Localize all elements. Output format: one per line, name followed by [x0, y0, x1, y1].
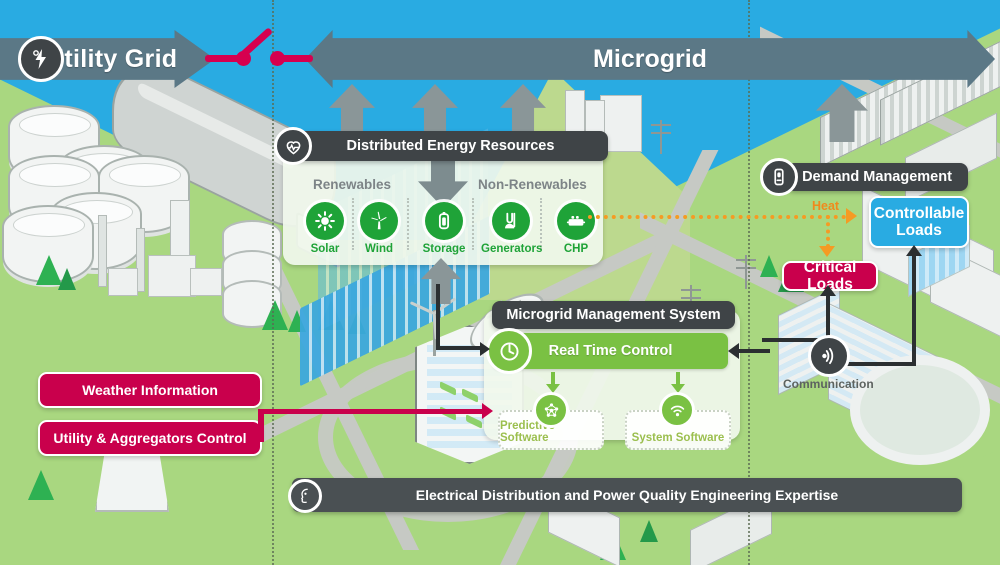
footer-label: Electrical Distribution and Power Qualit… — [416, 487, 838, 503]
plant-building — [148, 255, 196, 297]
footer-banner[interactable]: Electrical Distribution and Power Qualit… — [292, 478, 962, 512]
der-title: Distributed Energy Resources — [347, 138, 555, 154]
stadium — [850, 355, 990, 465]
mms-title: Microgrid Management System — [506, 307, 720, 323]
comm-to-rtc-line — [736, 349, 770, 353]
critical-loads-arrow — [820, 285, 836, 296]
plug-lightning-icon — [18, 36, 64, 82]
renewables-subtitle: Renewables — [313, 177, 391, 192]
demand-title: Demand Management — [802, 169, 952, 185]
tree — [262, 300, 288, 330]
head-profile-icon — [288, 479, 322, 513]
utility-aggregators-box[interactable]: Utility & Aggregators Control — [38, 420, 262, 456]
controllable-loads-line — [912, 253, 916, 365]
weather-information-box[interactable]: Weather Information — [38, 372, 262, 408]
sun-icon — [306, 202, 344, 240]
microgrid-label: Microgrid — [593, 45, 707, 74]
controllable-loads-label: Controllable Loads — [871, 205, 967, 240]
der-item-wind[interactable]: Wind — [349, 202, 409, 255]
der-item-chp[interactable]: CHP — [546, 202, 606, 255]
non-renewables-subtitle: Non-Renewables — [478, 177, 587, 192]
transmission-pylon — [660, 120, 662, 154]
der-to-rtc-vertical — [436, 284, 440, 346]
real-time-control-label: Real Time Control — [549, 343, 673, 359]
der-item-storage[interactable]: Storage — [414, 202, 474, 255]
boundary-line-left — [272, 0, 274, 565]
plant-building — [190, 268, 222, 296]
heat-branch-arrow — [819, 246, 835, 257]
meter-icon — [760, 158, 798, 196]
controllable-loads-arrow — [906, 245, 922, 256]
inputs-to-mms-arrow — [482, 403, 493, 419]
utility-aggregators-label: Utility & Aggregators Control — [53, 430, 246, 446]
der-label-chp: CHP — [546, 243, 606, 255]
wifi-signal-icon[interactable] — [808, 335, 850, 377]
heart-pulse-icon — [274, 127, 312, 165]
controllable-loads-box[interactable]: Controllable Loads — [869, 196, 969, 248]
heat-flow-line — [588, 215, 846, 219]
der-label-wind: Wind — [349, 243, 409, 255]
inputs-to-mms-line — [258, 409, 486, 414]
microgrid-diagram: Utility Grid Microgrid Distributed Energ… — [0, 0, 1000, 565]
tree — [640, 520, 658, 542]
der-item-generators[interactable]: Generators — [481, 202, 541, 255]
plant-building — [108, 268, 138, 296]
grid-disconnect-switch[interactable] — [205, 36, 315, 76]
communication-label: Communication — [783, 377, 874, 391]
power-clock-icon — [486, 328, 532, 374]
battery-icon — [425, 202, 463, 240]
chp-engine-icon — [557, 202, 595, 240]
der-label-solar: Solar — [295, 243, 355, 255]
heat-flow-arrow — [846, 208, 857, 224]
refinery-tower — [98, 215, 107, 287]
generator-icon — [492, 202, 530, 240]
network-nodes-icon — [533, 392, 569, 428]
critical-loads-line — [826, 293, 830, 341]
der-header[interactable]: Distributed Energy Resources — [293, 131, 608, 161]
wind-turbine-icon — [360, 202, 398, 240]
heat-label: Heat — [812, 199, 839, 213]
utility-grid-label: Utility Grid — [46, 45, 177, 74]
der-to-rtc-horizontal — [436, 346, 484, 350]
signal-waves-icon — [659, 392, 695, 428]
inputs-join-line — [258, 412, 264, 442]
switch-contact-right — [279, 55, 313, 62]
comm-to-rtc-arrow — [728, 343, 739, 359]
der-item-solar[interactable]: Solar — [295, 202, 355, 255]
demand-header[interactable]: Demand Management — [786, 163, 968, 191]
mms-header[interactable]: Microgrid Management System — [492, 301, 735, 329]
tree — [760, 255, 778, 277]
der-to-rtc-arrow — [480, 342, 490, 356]
transmission-pylon — [745, 255, 747, 289]
microgrid-banner[interactable]: Microgrid — [305, 30, 995, 88]
tree — [58, 268, 76, 290]
der-label-generators: Generators — [481, 243, 541, 255]
heat-branch-line — [826, 215, 830, 248]
system-software-label: System Software — [632, 432, 725, 444]
weather-information-label: Weather Information — [82, 382, 218, 398]
der-label-storage: Storage — [414, 243, 474, 255]
tree — [28, 470, 54, 500]
